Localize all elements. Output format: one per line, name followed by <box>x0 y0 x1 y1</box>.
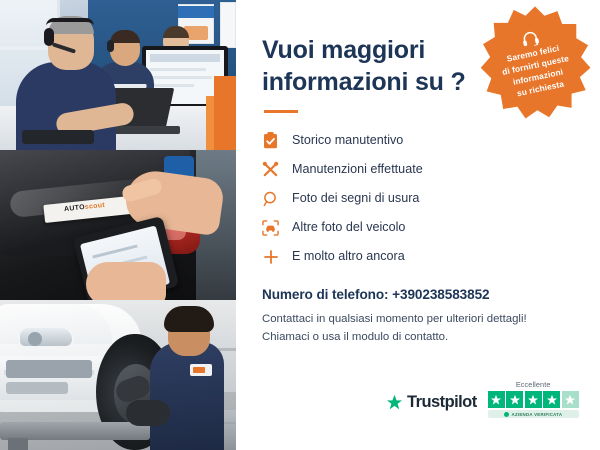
call-center-agents-photo <box>0 0 236 150</box>
star-filled-icon <box>543 391 560 408</box>
star-filled-icon <box>525 391 542 408</box>
mechanic-wheel-photo <box>0 300 236 450</box>
vehicle-inspection-photo: AUTOscout <box>0 150 236 300</box>
promo-banner: AUTOscout Vuoi maggiori informazioni su … <box>0 0 600 450</box>
check-circle-icon <box>504 412 509 417</box>
feature-label: E molto altro ancora <box>292 250 405 263</box>
feature-item-altre-foto-veicolo: Altre foto del veicolo <box>262 213 578 242</box>
star-filled-icon <box>506 391 523 408</box>
headline-line-2: informazioni su ? <box>262 68 466 96</box>
contact-subtext-line-2: Chiamaci o usa il modulo di contatto. <box>262 329 578 347</box>
crossed-tools-icon <box>262 161 279 178</box>
plus-icon <box>262 248 279 265</box>
page-title: Vuoi maggiori informazioni su ? <box>262 34 477 98</box>
phone-number[interactable]: Numero di telefono: +390238583852 <box>262 287 578 302</box>
contact-subtext: Contattaci in qualsiasi momento per ulte… <box>262 311 578 346</box>
feature-item-molto-altro: E molto altro ancora <box>262 242 578 271</box>
feature-label: Foto dei segni di usura <box>292 192 419 205</box>
verified-label: AZIENDA VERIFICATA <box>512 412 563 417</box>
trustpilot-logo[interactable]: Trustpilot <box>386 393 477 418</box>
feature-item-storico-manutentivo: Storico manutentivo <box>262 126 578 155</box>
scan-vehicle-icon <box>262 219 279 236</box>
contact-subtext-line-1: Contattaci in qualsiasi momento per ulte… <box>262 311 578 329</box>
verified-company-badge: AZIENDA VERIFICATA <box>488 410 579 418</box>
feature-label: Altre foto del veicolo <box>292 221 405 234</box>
clipboard-check-icon <box>262 132 279 149</box>
magnifier-icon <box>262 190 279 207</box>
callout-badge: Saremo felici di fornirti queste informa… <box>476 4 594 122</box>
star-rating <box>488 391 579 408</box>
trustpilot-rating[interactable]: Trustpilot Eccellente <box>386 380 579 418</box>
feature-item-foto-segni-usura: Foto dei segni di usura <box>262 184 578 213</box>
feature-list: Storico manutentivo Manutenzioni effettu… <box>262 126 578 271</box>
feature-label: Storico manutentivo <box>292 134 403 147</box>
feature-item-manutenzioni-effettuate: Manutenzioni effettuate <box>262 155 578 184</box>
star-icon <box>386 394 403 411</box>
headline-line-1: Vuoi maggiori <box>262 36 425 64</box>
star-half-icon <box>562 391 579 408</box>
photo-column: AUTOscout <box>0 0 236 450</box>
content-panel: Vuoi maggiori informazioni su ? Saremo f… <box>236 0 600 450</box>
title-underline-rule <box>264 110 298 113</box>
feature-label: Manutenzioni effettuate <box>292 163 423 176</box>
star-filled-icon <box>488 391 505 408</box>
trustpilot-name: Trustpilot <box>407 393 477 412</box>
rating-label: Eccellente <box>516 380 551 389</box>
